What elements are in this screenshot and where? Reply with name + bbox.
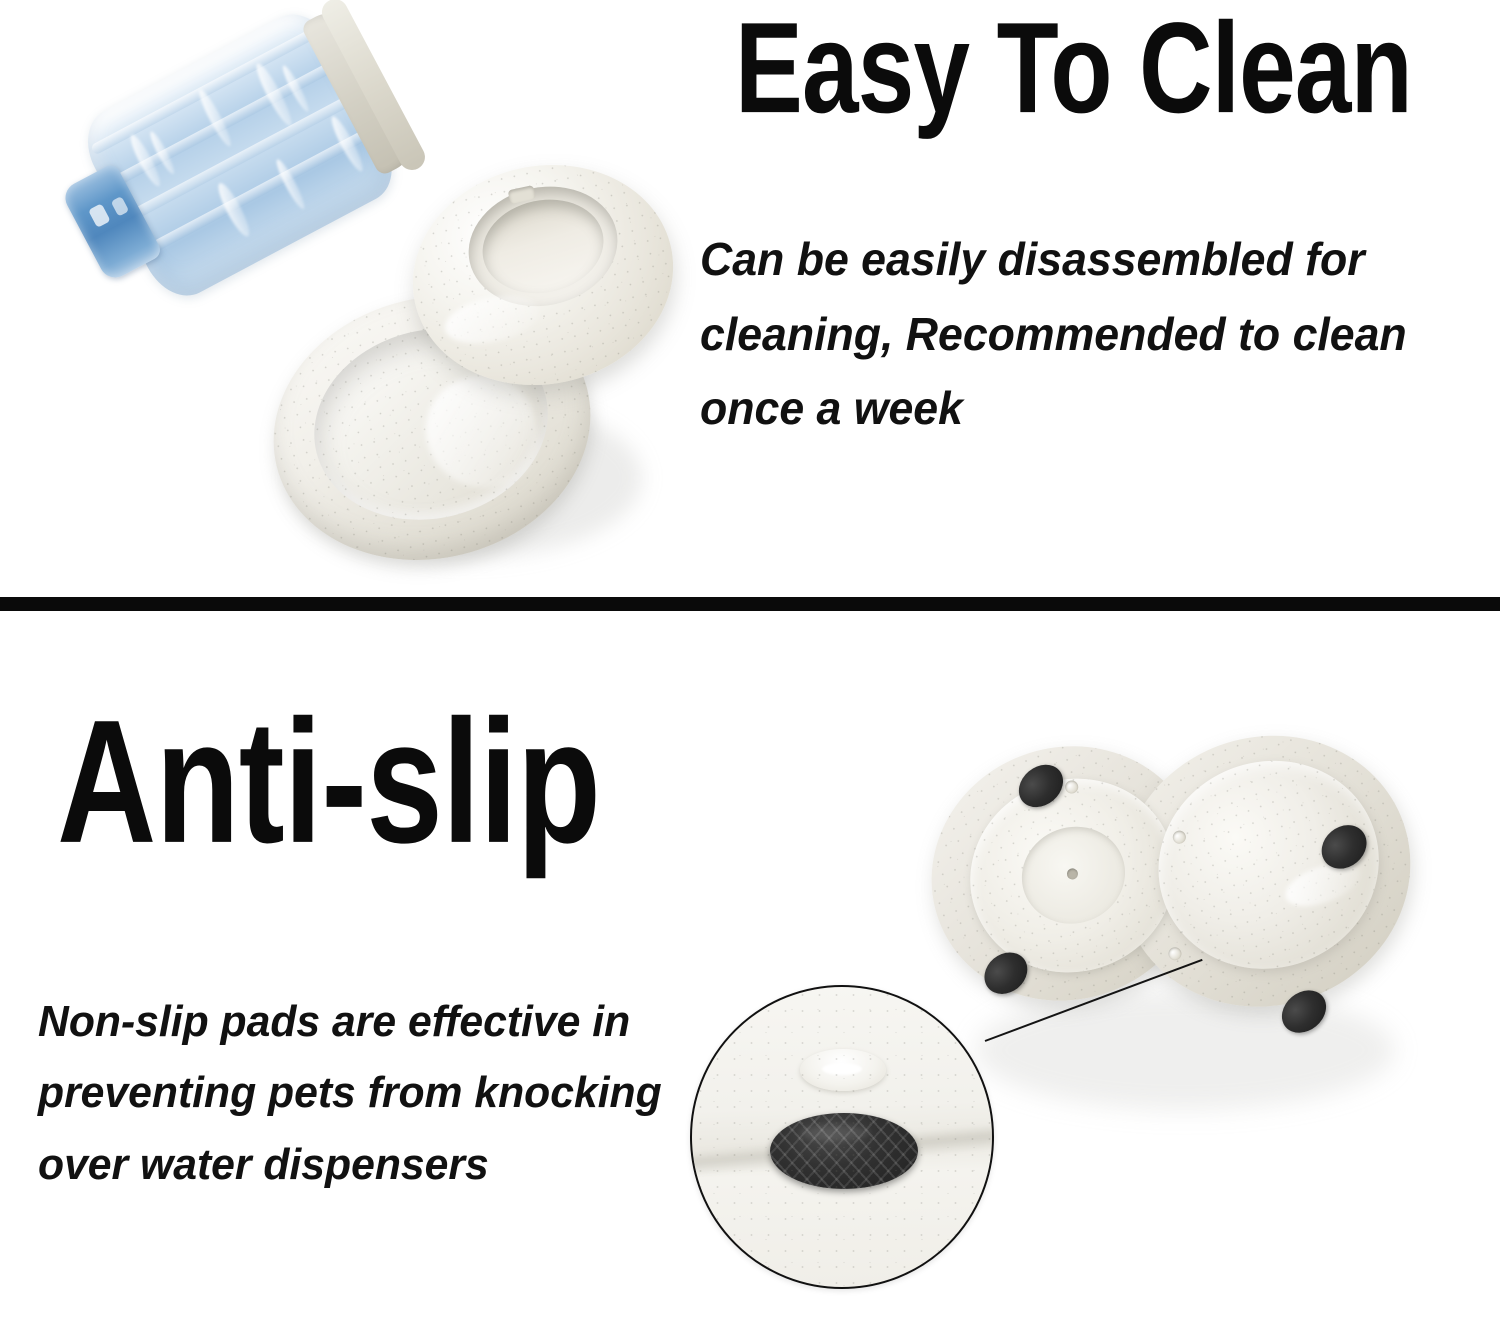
section-body-anti-slip: Non-slip pads are effective in preventin… [38, 986, 698, 1200]
center-pip [1065, 867, 1079, 881]
section-heading-easy-to-clean: Easy To Clean [735, 4, 1412, 133]
bottle-socket-hole [474, 189, 612, 304]
bowl-base-photo [262, 148, 682, 568]
socket-underside-ring [1008, 812, 1139, 938]
non-slip-pad-closeup [770, 1113, 918, 1189]
section-divider [0, 597, 1500, 611]
bowl-underside-photo [935, 690, 1445, 1120]
section-heading-anti-slip: Anti-slip [57, 694, 600, 869]
section-body-easy-to-clean: Can be easily disassembled for cleaning,… [700, 222, 1466, 446]
molded-bump [800, 1049, 886, 1091]
bottle-socket-ring [457, 173, 628, 320]
section-easy-to-clean: Easy To Clean Can be easily disassembled… [0, 0, 1500, 598]
non-slip-pad-magnifier [690, 985, 994, 1289]
